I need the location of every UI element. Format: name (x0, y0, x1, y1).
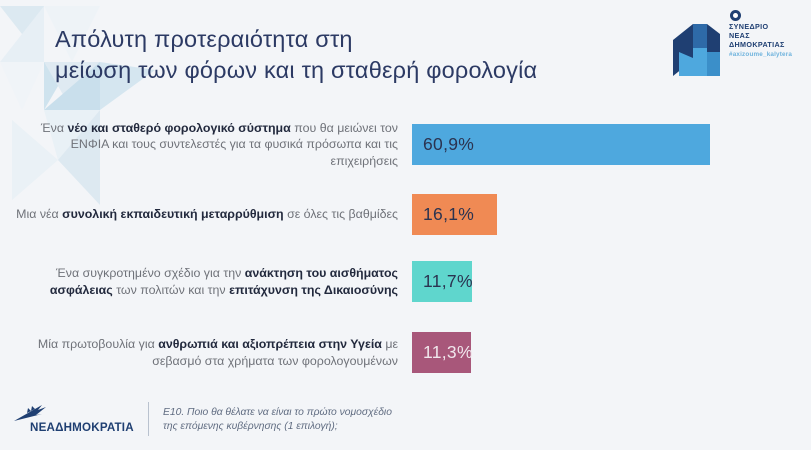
survey-question: Ε10. Ποιο θα θέλατε να είναι το πρώτο νο… (163, 406, 583, 435)
chart-bar-value: 11,7% (423, 271, 473, 292)
chart-row-label: Ένα συγκροτημένο σχέδιο για την ανάκτηση… (0, 265, 412, 298)
congress-logo-line-1: ΣΥΝΕΔΡΙΟ (729, 22, 792, 31)
chart-bar-value: 16,1% (423, 204, 474, 225)
bar-chart: Ένα νέο και σταθερό φορολογικό σύστημα π… (0, 118, 811, 390)
chart-row-label: Μια νέα συνολική εκπαιδευτική μεταρρύθμι… (0, 206, 412, 222)
chart-row-label: Ένα νέο και σταθερό φορολογικό σύστημα π… (0, 120, 412, 169)
congress-logo-dot-icon (730, 10, 741, 21)
footer: ΝΕΑΔΗΜΟΚΡΑΤΙΑ Ε10. Ποιο θα θέλατε να είν… (0, 398, 811, 450)
chart-bar: 16,1% (412, 194, 497, 235)
chart-bar-value: 60,9% (423, 134, 474, 155)
chart-bar: 11,3% (412, 332, 471, 373)
chart-bar: 11,7% (412, 261, 472, 302)
slide-root: Απόλυτη προτεραιότητα στη μείωση των φόρ… (0, 0, 811, 450)
congress-logo-mark (673, 18, 727, 81)
footer-divider (148, 402, 149, 436)
chart-bar: 60,9% (412, 124, 710, 165)
congress-logo-tagline: #axizoume_kalytera (729, 51, 792, 58)
party-logo: ΝΕΑΔΗΜΟΚΡΑΤΙΑ (12, 404, 134, 438)
page-title: Απόλυτη προτεραιότητα στη μείωση των φόρ… (55, 24, 675, 86)
chart-row: Ένα νέο και σταθερό φορολογικό σύστημα π… (0, 120, 811, 169)
congress-logo-text: ΣΥΝΕΔΡΙΟ ΝΕΑΣ ΔΗΜΟΚΡΑΤΙΑΣ #axizoume_kaly… (729, 22, 792, 58)
chart-row-label: Μία πρωτοβουλία για ανθρωπιά και αξιοπρέ… (0, 336, 412, 369)
congress-logo-line-3: ΔΗΜΟΚΡΑΤΙΑΣ (729, 40, 792, 49)
congress-logo: ΣΥΝΕΔΡΙΟ ΝΕΑΣ ΔΗΜΟΚΡΑΤΙΑΣ #axizoume_kaly… (673, 8, 789, 78)
chart-row: Ένα συγκροτημένο σχέδιο για την ανάκτηση… (0, 261, 811, 302)
chart-row: Μια νέα συνολική εκπαιδευτική μεταρρύθμι… (0, 194, 811, 235)
chart-bar-value: 11,3% (423, 342, 473, 363)
congress-logo-line-2: ΝΕΑΣ (729, 31, 792, 40)
header: Απόλυτη προτεραιότητα στη μείωση των φόρ… (0, 0, 811, 108)
chart-row: Μία πρωτοβουλία για ανθρωπιά και αξιοπρέ… (0, 332, 811, 373)
party-name: ΝΕΑΔΗΜΟΚΡΑΤΙΑ (30, 421, 134, 434)
